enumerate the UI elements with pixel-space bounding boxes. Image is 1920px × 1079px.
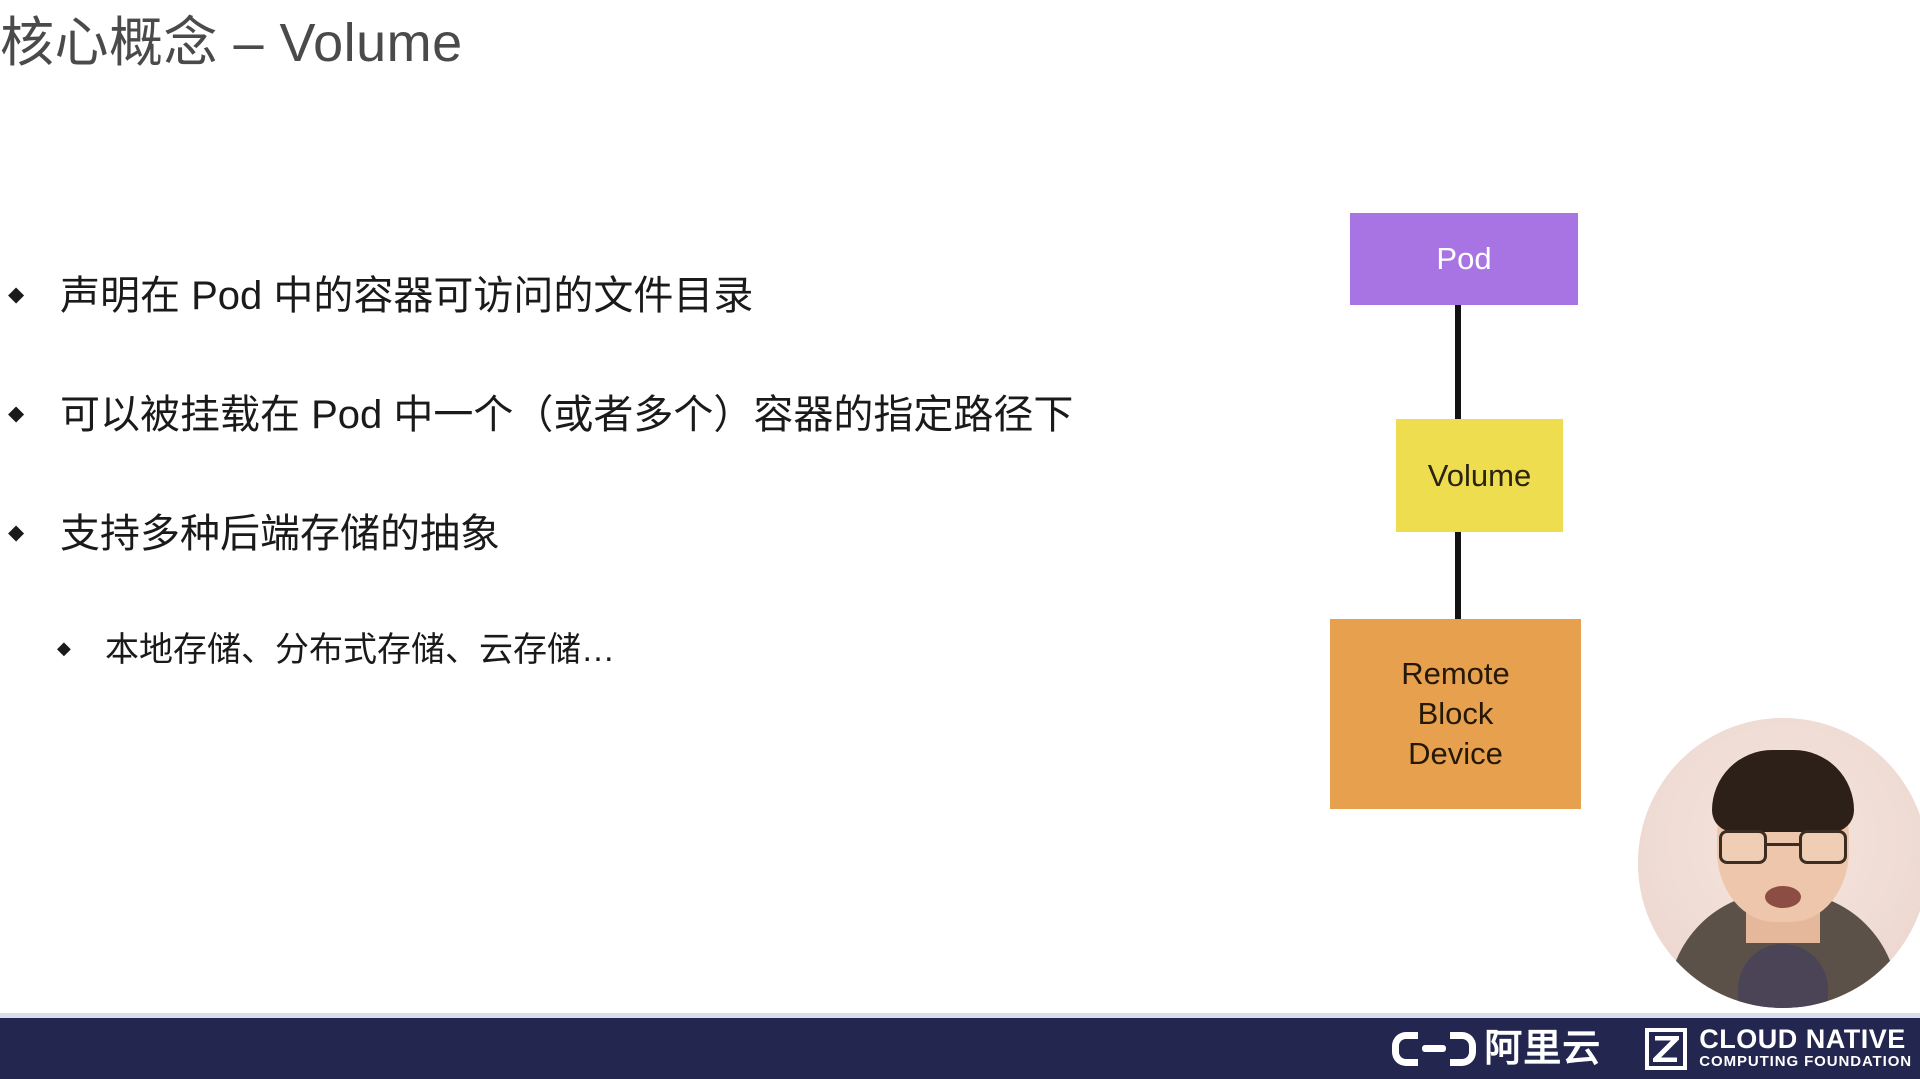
diamond-bullet-icon: ◆ — [8, 403, 60, 424]
list-item: ◆ 可以被挂载在 Pod 中一个（或者多个）容器的指定路径下 — [0, 389, 1340, 441]
presenter-video-avatar[interactable] — [1638, 718, 1920, 1008]
alibaba-cloud-mark-icon — [1392, 1029, 1476, 1069]
alibaba-cloud-wordmark: 阿里云 — [1484, 1029, 1601, 1069]
footer-logo-group: 阿里云 CLOUD NATIVE COMPUTING FOUNDATION — [1392, 1018, 1912, 1079]
volume-architecture-diagram: Pod Volume Remote Block Device — [1330, 200, 1610, 830]
glasses-icon — [1719, 830, 1847, 864]
webcam-mouth — [1765, 886, 1801, 908]
footer-bar: 阿里云 CLOUD NATIVE COMPUTING FOUNDATION — [0, 1013, 1920, 1079]
diagram-node-pod: Pod — [1350, 213, 1578, 305]
diagram-node-volume: Volume — [1396, 419, 1563, 532]
cncf-wordmark: CLOUD NATIVE COMPUTING FOUNDATION — [1699, 1026, 1912, 1071]
bullet-list: ◆ 声明在 Pod 中的容器可访问的文件目录 ◆ 可以被挂载在 Pod 中一个（… — [0, 270, 1340, 673]
cncf-wordmark-line-1: CLOUD NATIVE — [1699, 1026, 1912, 1053]
rbd-label-line-1: Remote — [1401, 656, 1510, 691]
list-item-label: 声明在 Pod 中的容器可访问的文件目录 — [60, 270, 1340, 322]
diagram-node-remote-block-device: Remote Block Device — [1330, 619, 1581, 809]
diagram-node-pod-label: Pod — [1436, 239, 1491, 279]
cncf-mark-icon — [1645, 1028, 1687, 1070]
cncf-logo: CLOUD NATIVE COMPUTING FOUNDATION — [1645, 1026, 1912, 1071]
sub-list-item: ◆ 本地存储、分布式存储、云存储… — [0, 627, 1340, 673]
list-item-label: 可以被挂载在 Pod 中一个（或者多个）容器的指定路径下 — [60, 389, 1340, 441]
diagram-node-remote-block-device-label: Remote Block Device — [1401, 654, 1510, 774]
rbd-label-line-2: Block — [1418, 696, 1494, 731]
slide-canvas: 核心概念 – Volume ◆ 声明在 Pod 中的容器可访问的文件目录 ◆ 可… — [0, 0, 1920, 1079]
diamond-bullet-icon: ◆ — [8, 522, 60, 543]
list-item-label: 支持多种后端存储的抽象 — [60, 508, 1340, 560]
dash-shape — [1422, 1045, 1446, 1052]
alibaba-cloud-logo: 阿里云 — [1392, 1029, 1601, 1069]
page-title: 核心概念 – Volume — [0, 8, 1200, 78]
diamond-bullet-icon: ◆ — [57, 639, 105, 657]
sub-list-item-label: 本地存储、分布式存储、云存储… — [105, 627, 1340, 673]
bracket-right-shape — [1450, 1032, 1476, 1066]
edge-pod-to-volume — [1455, 296, 1461, 436]
edge-volume-to-remote-block-device — [1455, 516, 1461, 634]
diagram-node-volume-label: Volume — [1428, 456, 1531, 496]
glasses-lens-left — [1719, 830, 1767, 864]
glasses-lens-right — [1799, 830, 1847, 864]
diamond-bullet-icon: ◆ — [8, 284, 60, 305]
list-item: ◆ 支持多种后端存储的抽象 — [0, 508, 1340, 560]
bracket-left-shape — [1392, 1032, 1418, 1066]
cncf-z-glyph — [1653, 1036, 1679, 1062]
cncf-wordmark-line-2: COMPUTING FOUNDATION — [1699, 1053, 1912, 1071]
glasses-bridge — [1767, 843, 1799, 846]
rbd-label-line-3: Device — [1408, 736, 1503, 771]
list-item: ◆ 声明在 Pod 中的容器可访问的文件目录 — [0, 270, 1340, 322]
